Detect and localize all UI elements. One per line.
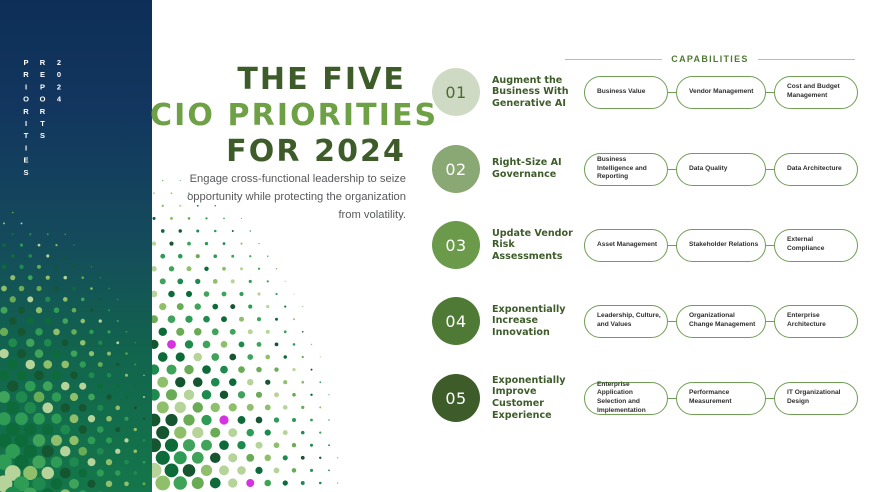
capability-pill-label: Data Quality xyxy=(689,165,727,174)
priority-row: 04Exponentially Increase InnovationLeade… xyxy=(432,297,862,345)
priority-number-circle: 02 xyxy=(432,145,480,193)
priority-row: 02Right-Size AI GovernanceBusiness Intel… xyxy=(432,145,862,193)
capability-pill[interactable]: IT Organizational Design xyxy=(774,382,858,415)
capability-pill-label: Enterprise Architecture xyxy=(787,312,851,329)
header-rule-right xyxy=(758,59,855,60)
priority-title: Exponentially Increase Innovation xyxy=(492,304,578,339)
pill-connector-line xyxy=(668,398,676,399)
capability-pill[interactable]: Business Value xyxy=(584,76,668,109)
capability-pill-label: Data Architecture xyxy=(787,165,842,174)
capability-pill[interactable]: External Compliance xyxy=(774,229,858,262)
capability-pill-label: Business Value xyxy=(597,88,645,97)
pill-connector-line xyxy=(668,245,676,246)
capability-pill-label: Business Intelligence and Reporting xyxy=(597,156,661,182)
capability-pill[interactable]: Enterprise Application Selection and Imp… xyxy=(584,382,668,415)
priority-row: 01Augment the Business With Generative A… xyxy=(432,68,862,116)
capability-pill-label: Organizational Change Management xyxy=(689,312,759,329)
capability-pill-label: Performance Measurement xyxy=(689,389,759,406)
capability-pill[interactable]: Data Quality xyxy=(676,153,766,186)
capability-pill-group: Business Intelligence and ReportingData … xyxy=(584,153,858,186)
capability-pill[interactable]: Enterprise Architecture xyxy=(774,305,858,338)
pill-connector-line xyxy=(766,245,774,246)
capability-pill[interactable]: Vendor Management xyxy=(676,76,766,109)
capability-pill-label: External Compliance xyxy=(787,236,851,253)
pill-connector-line xyxy=(766,321,774,322)
capability-pill[interactable]: Data Architecture xyxy=(774,153,858,186)
capability-pill-group: Asset ManagementStakeholder RelationsExt… xyxy=(584,229,858,262)
capability-pill[interactable]: Performance Measurement xyxy=(676,382,766,415)
capability-pill[interactable]: Organizational Change Management xyxy=(676,305,766,338)
capability-pill[interactable]: Asset Management xyxy=(584,229,668,262)
priority-row: 03Update Vendor Risk AssessmentsAsset Ma… xyxy=(432,221,862,269)
priority-title: Augment the Business With Generative AI xyxy=(492,75,578,110)
capability-pill[interactable]: Business Intelligence and Reporting xyxy=(584,153,668,186)
priority-number-circle: 04 xyxy=(432,297,480,345)
pill-connector-line xyxy=(668,169,676,170)
capability-pill-label: Enterprise Application Selection and Imp… xyxy=(597,381,661,415)
left-decorative-panel: PRIORITIES REPORTS 2024 xyxy=(0,0,152,492)
capability-pill-group: Enterprise Application Selection and Imp… xyxy=(584,382,858,415)
priority-number-circle: 01 xyxy=(432,68,480,116)
vertical-report-label: PRIORITIES REPORTS 2024 xyxy=(22,58,63,180)
title-line-1: THE FIVE xyxy=(150,62,406,98)
capability-pill[interactable]: Stakeholder Relations xyxy=(676,229,766,262)
vertical-label-year: 2024 xyxy=(55,58,63,180)
capability-pill-label: Cost and Budget Management xyxy=(787,83,851,100)
capability-pill-label: Leadership, Culture, and Values xyxy=(597,312,661,329)
priority-title: Exponentially Improve Customer Experienc… xyxy=(492,375,578,421)
pill-connector-line xyxy=(668,92,676,93)
title-line-2: CIO PRIORITIES xyxy=(150,98,406,134)
capability-pill-group: Business ValueVendor ManagementCost and … xyxy=(584,76,858,109)
page-title: THE FIVE CIO PRIORITIES FOR 2024 xyxy=(150,62,406,170)
capabilities-label: CAPABILITIES xyxy=(671,54,748,64)
capability-pill-label: IT Organizational Design xyxy=(787,389,851,406)
capability-pill-label: Vendor Management xyxy=(689,88,754,97)
vertical-label-priorities: PRIORITIES xyxy=(22,58,30,180)
priority-number-circle: 05 xyxy=(432,374,480,422)
subtitle-text: Engage cross-functional leadership to se… xyxy=(186,170,406,224)
pill-connector-line xyxy=(766,92,774,93)
priority-row: 05Exponentially Improve Customer Experie… xyxy=(432,374,862,422)
priority-title: Update Vendor Risk Assessments xyxy=(492,228,578,263)
capability-pill-group: Leadership, Culture, and ValuesOrganizat… xyxy=(584,305,858,338)
header-rule-left xyxy=(565,59,662,60)
pill-connector-line xyxy=(766,169,774,170)
vertical-label-reports: REPORTS xyxy=(39,58,47,180)
capability-pill[interactable]: Cost and Budget Management xyxy=(774,76,858,109)
capability-pill-label: Asset Management xyxy=(597,241,657,250)
capability-pill[interactable]: Leadership, Culture, and Values xyxy=(584,305,668,338)
pill-connector-line xyxy=(668,321,676,322)
priority-number-circle: 03 xyxy=(432,221,480,269)
capabilities-header: CAPABILITIES xyxy=(565,54,855,64)
pill-connector-line xyxy=(766,398,774,399)
capability-pill-label: Stakeholder Relations xyxy=(689,241,758,250)
priority-title: Right-Size AI Governance xyxy=(492,157,578,180)
title-line-3: FOR 2024 xyxy=(150,134,406,170)
